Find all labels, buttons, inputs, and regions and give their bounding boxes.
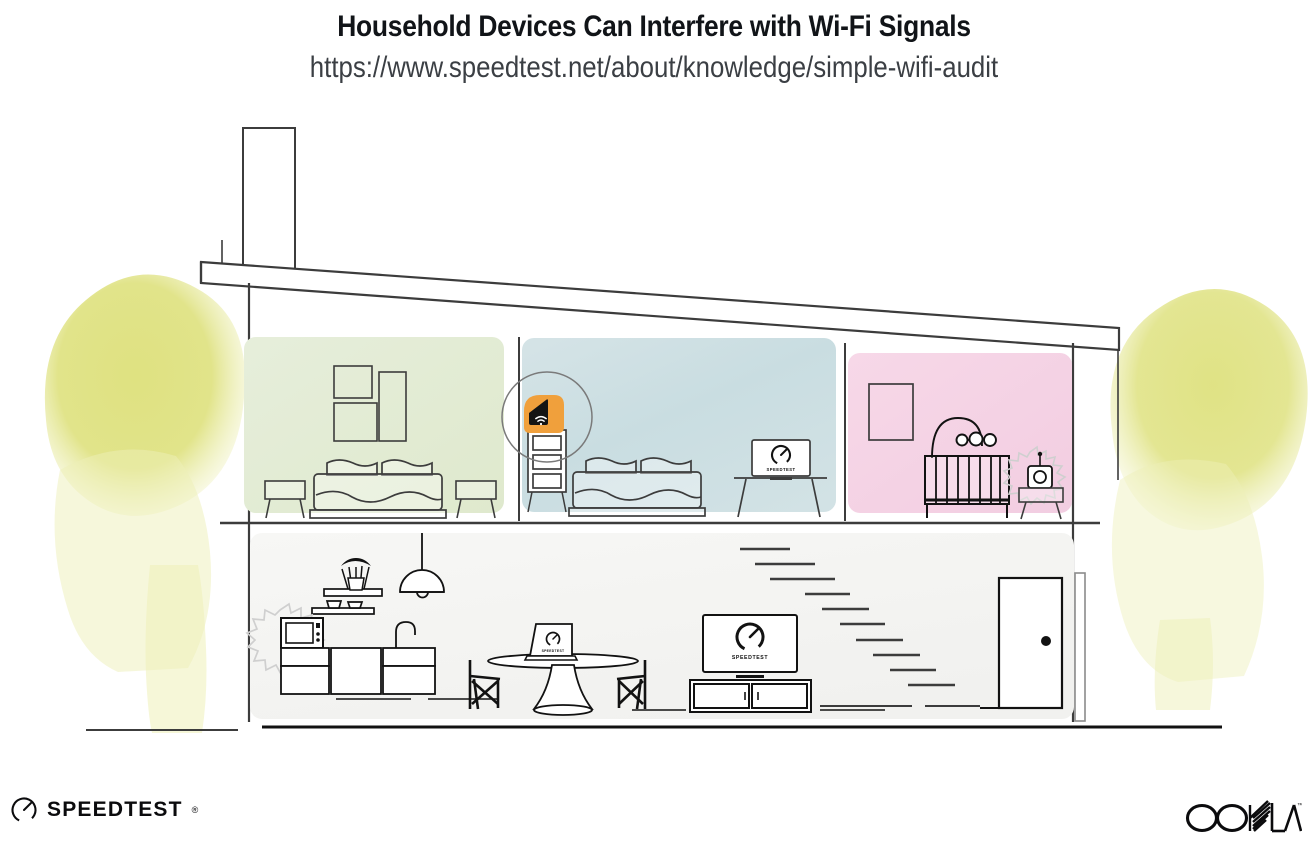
- monitor: SPEEDTEST: [752, 440, 810, 480]
- laptop-screen-label: SPEEDTEST: [542, 649, 565, 653]
- room-bedroom-green: [244, 337, 519, 521]
- tv: SPEEDTEST: [703, 615, 797, 678]
- foliage-right: [1110, 289, 1307, 710]
- ookla-trademark: ™: [1297, 802, 1302, 809]
- router: [524, 395, 564, 433]
- roof: [201, 240, 1119, 350]
- speedtest-gauge-icon: [10, 796, 38, 824]
- chimney: [243, 128, 295, 278]
- room-living-kitchen: SPEEDTEST: [247, 533, 1074, 719]
- room-nursery-pink: [848, 353, 1072, 519]
- house-cutaway-illustration: SPEEDTEST: [0, 0, 1308, 861]
- footer: SPEEDTEST ®: [0, 786, 1308, 846]
- room-bedroom-blue: SPEEDTEST: [522, 338, 845, 521]
- door-knob: [1041, 636, 1051, 646]
- speedtest-wordmark: SPEEDTEST: [47, 798, 183, 822]
- foliage-left: [45, 275, 245, 733]
- downspout: [1075, 573, 1085, 721]
- tv-screen-label: SPEEDTEST: [732, 655, 768, 661]
- speedtest-trademark: ®: [192, 805, 199, 815]
- monitor-screen-label: SPEEDTEST: [767, 467, 796, 472]
- ookla-logo: ™: [1184, 796, 1302, 843]
- infographic-canvas: Household Devices Can Interfere with Wi-…: [0, 0, 1308, 861]
- ookla-wordmark: ™: [1184, 796, 1302, 838]
- speedtest-logo: SPEEDTEST ®: [10, 796, 198, 824]
